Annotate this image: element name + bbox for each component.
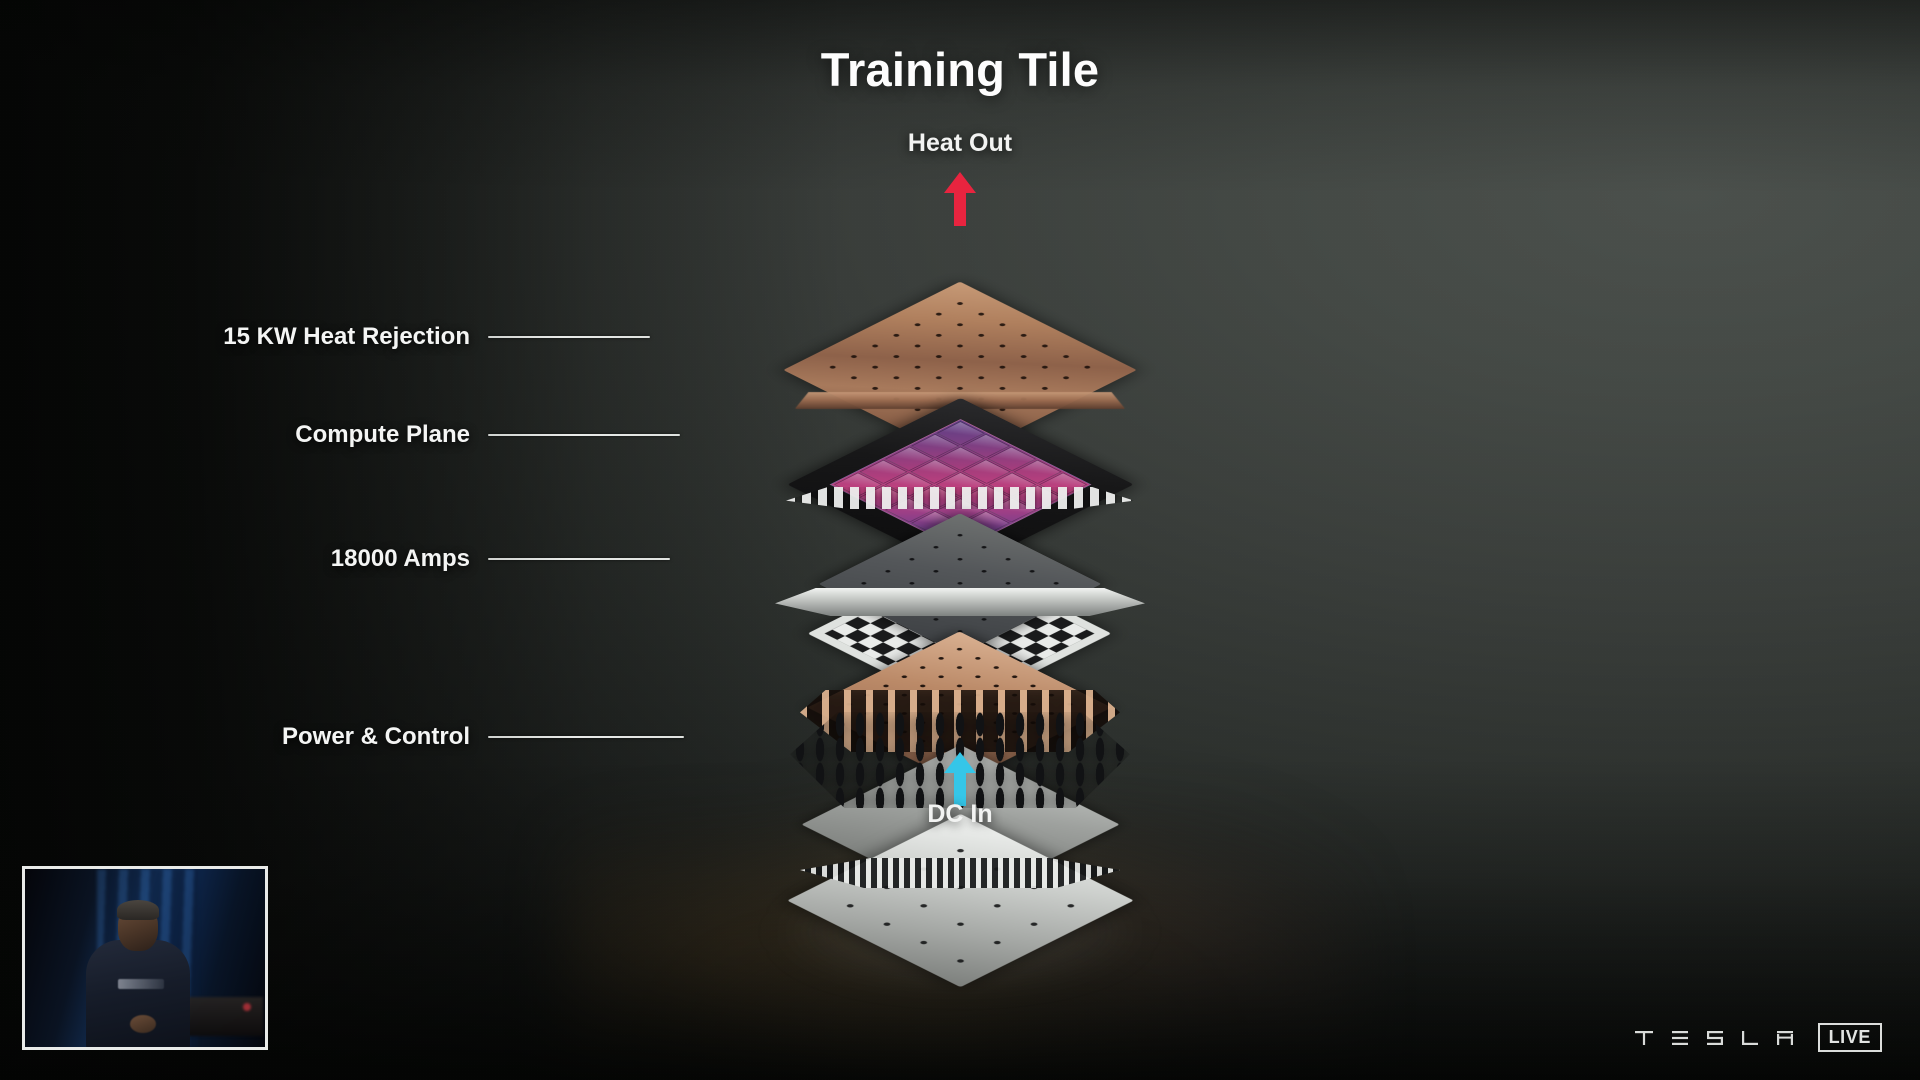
pip-presenter-hair xyxy=(117,900,159,920)
callout-leader-line xyxy=(488,434,680,436)
pip-presenter-hands xyxy=(130,1015,156,1033)
callout-compute-plane: Compute Plane xyxy=(182,418,680,452)
callout-amps: 18000 Amps xyxy=(182,542,670,576)
broadcast-watermark: LIVE xyxy=(1634,1023,1882,1052)
callout-heat-rejection: 15 KW Heat Rejection xyxy=(182,320,650,354)
heat-out-arrow-icon xyxy=(943,172,977,231)
pip-presenter-body xyxy=(86,940,190,1050)
callout-label: 18000 Amps xyxy=(182,545,470,573)
page-title: Training Tile xyxy=(0,42,1920,97)
pip-stage-desk xyxy=(181,997,263,1036)
vignette-top xyxy=(0,0,1920,1080)
callout-power-control: Power & Control xyxy=(182,720,684,754)
heat-out-label: Heat Out xyxy=(760,129,1160,158)
tesla-wordmark-icon xyxy=(1634,1027,1794,1049)
callout-leader-line xyxy=(488,558,670,560)
callout-leader-line xyxy=(488,336,650,338)
callout-leader-line xyxy=(488,736,684,738)
presentation-slide: Training Tile xyxy=(0,0,1920,1080)
callout-label: Compute Plane xyxy=(182,421,470,449)
pip-shirt-logo xyxy=(118,979,164,989)
callout-label: 15 KW Heat Rejection xyxy=(182,323,470,351)
callout-label: Power & Control xyxy=(182,723,470,751)
presenter-video-pip[interactable] xyxy=(22,866,268,1050)
live-badge: LIVE xyxy=(1818,1023,1882,1052)
dc-in-label: DC In xyxy=(760,800,1160,829)
